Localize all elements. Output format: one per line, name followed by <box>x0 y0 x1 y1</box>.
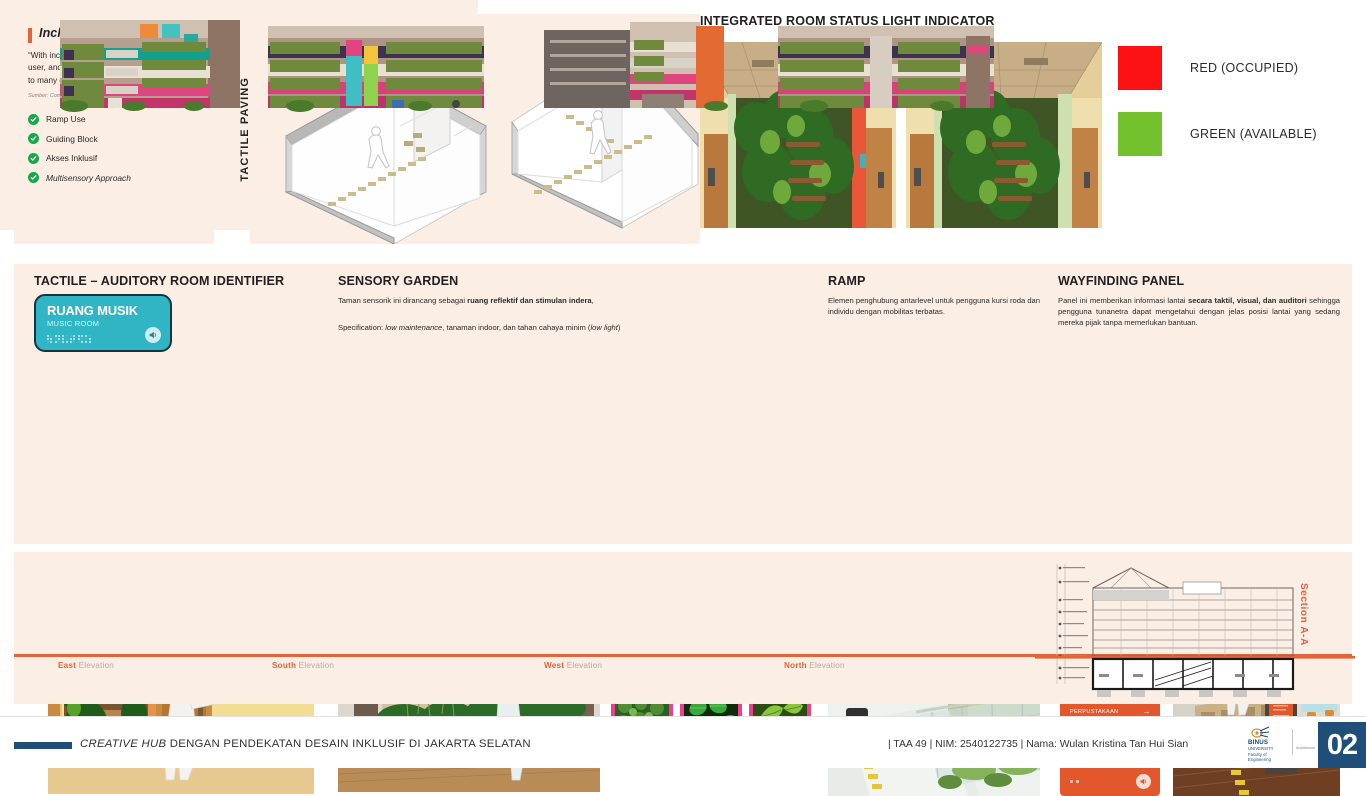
feature-label: Multisensory Approach <box>46 173 131 183</box>
footer-author-meta: | TAA 49 | NIM: 2540122735 | Nama: Wulan… <box>888 739 1188 750</box>
ramp-body: Elemen penghubung antarlevel untuk pengg… <box>828 295 1040 317</box>
legend-item-red: RED (OCCUPIED) <box>1118 46 1317 90</box>
elevation-label-south: South Elevation <box>272 661 334 670</box>
elevation-north <box>770 6 1010 146</box>
footer-accent-bar <box>14 742 72 749</box>
wayfinding-panel-footer <box>1070 774 1151 789</box>
tactile-identifier-column: TACTILE – AUDITORY ROOM IDENTIFIER <box>34 274 330 288</box>
elevation-dir: South <box>272 661 296 670</box>
footer-title-rest: DENGAN PENDEKATAN DESAIN INKLUSIF DI JAK… <box>166 738 531 750</box>
ramp-column: RAMP Elemen penghubung antarlevel untuk … <box>828 274 1040 317</box>
sensory-garden-line-2: Specification: low maintenance, tanaman … <box>338 322 808 333</box>
sensory-line2-e: ) <box>618 323 621 332</box>
footer-project-title: CREATIVE HUB DENGAN PENDEKATAN DESAIN IN… <box>80 738 531 750</box>
binus-logo: BINUS UNIVERSITY Faculty of Engineering … <box>1248 726 1310 760</box>
sensory-garden-column: SENSORY GARDEN Taman sensorik ini diranc… <box>338 274 808 333</box>
elevation-west <box>530 6 770 146</box>
elevation-east <box>44 6 284 146</box>
binus-department-text: Architecture <box>1296 746 1315 750</box>
green-swatch-icon <box>1118 112 1162 156</box>
sensory-garden-heading: SENSORY GARDEN <box>338 274 808 288</box>
wayfinding-body-bold: secara taktil, visual, dan auditori <box>1188 296 1307 305</box>
feature-item: Akses Inklusif <box>28 153 202 164</box>
room-sign-title: RUANG MUSIK <box>47 303 161 318</box>
check-circle-icon <box>28 133 39 144</box>
legend-label: GREEN (AVAILABLE) <box>1190 127 1317 141</box>
sensory-line1-c: , <box>592 296 594 305</box>
elevation-south <box>260 6 500 146</box>
elevation-suffix: Elevation <box>76 661 114 670</box>
audio-speaker-icon[interactable] <box>1136 774 1151 789</box>
sensory-line1-bold: ruang reflektif dan stimulan indera <box>467 296 591 305</box>
accent-tick-icon <box>28 28 32 43</box>
sensory-garden-line-1: Taman sensorik ini dirancang sebagai rua… <box>338 295 808 306</box>
binus-mark-icon <box>1248 726 1270 739</box>
elevation-label-west: West Elevation <box>544 661 602 670</box>
elevation-dir: North <box>784 661 807 670</box>
room-sign-subtitle: MUSIC ROOM <box>47 319 161 328</box>
elevation-suffix: Elevation <box>564 661 602 670</box>
check-circle-icon <box>28 114 39 125</box>
sensory-line2-a: Specification: <box>338 323 385 332</box>
wayfinding-heading: WAYFINDING PANEL <box>1058 274 1340 288</box>
logo-divider <box>1292 729 1293 755</box>
wayfinding-body-a: Panel ini memberikan informasi lantai <box>1058 296 1188 305</box>
elevation-suffix: Elevation <box>296 661 334 670</box>
tactile-identifier-heading: TACTILE – AUDITORY ROOM IDENTIFIER <box>34 274 330 288</box>
elevation-suffix: Elevation <box>807 661 845 670</box>
wayfinding-column: WAYFINDING PANEL Panel ini memberikan in… <box>1058 274 1340 328</box>
room-status-legend: RED (OCCUPIED) GREEN (AVAILABLE) <box>1118 46 1317 156</box>
elevation-label-east: East Elevation <box>58 661 114 670</box>
feature-label: Akses Inklusif <box>46 153 97 163</box>
room-identifier-sign: RUANG MUSIK MUSIC ROOM <box>34 294 172 352</box>
audio-speaker-icon[interactable] <box>145 327 161 343</box>
binus-wordmark: BINUS <box>1248 739 1310 746</box>
ramp-heading: RAMP <box>828 274 1040 288</box>
legend-label: RED (OCCUPIED) <box>1190 61 1298 75</box>
page-number-badge: 02 <box>1318 722 1366 768</box>
sensory-line2-italic-1: low maintenance <box>385 323 442 332</box>
sensory-line2-c: , tanaman indoor, dan tahan cahaya minim… <box>442 323 590 332</box>
legend-item-green: GREEN (AVAILABLE) <box>1118 112 1317 156</box>
elevation-label-north: North Elevation <box>784 661 845 670</box>
middle-content-row: TACTILE – AUDITORY ROOM IDENTIFIER RUANG… <box>14 264 1352 544</box>
elevation-dir: West <box>544 661 564 670</box>
sensory-line1-a: Taman sensorik ini dirancang sebagai <box>338 296 467 305</box>
section-label: Section A-A <box>1298 583 1309 646</box>
sensory-line2-italic-2: low light <box>590 323 617 332</box>
wayfinding-body: Panel ini memberikan informasi lantai se… <box>1058 295 1340 328</box>
footer-title-italic: CREATIVE HUB <box>80 738 166 750</box>
wayfinding-row-label: PERPUSTAKAAN <box>1070 709 1118 715</box>
braille-letters-icon <box>47 335 91 343</box>
red-swatch-icon <box>1118 46 1162 90</box>
check-circle-icon <box>28 172 39 183</box>
braille-dots-icon <box>1070 780 1079 783</box>
check-circle-icon <box>28 153 39 164</box>
feature-item: Multisensory Approach <box>28 172 202 183</box>
elevation-dir: East <box>58 661 76 670</box>
